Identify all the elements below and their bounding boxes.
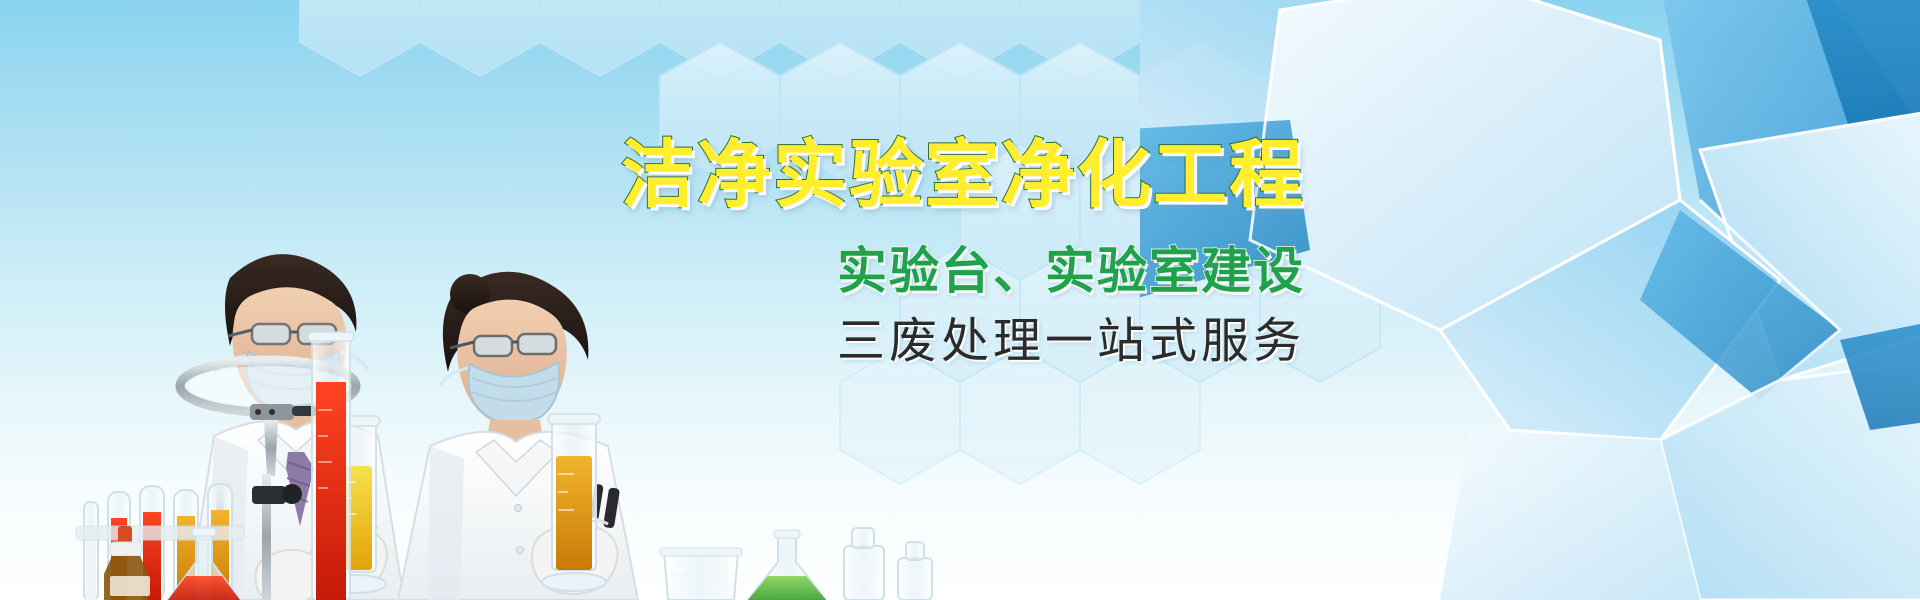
beaker xyxy=(660,548,742,600)
erlenmeyer-flask-green xyxy=(748,530,826,600)
headline-primary: 洁净实验室净化工程 xyxy=(545,138,1305,212)
headline-block: 洁净实验室净化工程 实验台、实验室建设 三废处理一站式服务 xyxy=(545,138,1305,366)
headline-tagline: 三废处理一站式服务 xyxy=(545,318,1305,366)
headline-secondary: 实验台、实验室建设 xyxy=(545,246,1305,296)
yellow-graduated-cylinder-right xyxy=(542,414,606,591)
red-graduated-cylinder xyxy=(308,332,354,600)
banner-root: 洁净实验室净化工程 实验台、实验室建设 三废处理一站式服务 xyxy=(0,0,1920,600)
glass-bottles-right xyxy=(844,528,932,600)
